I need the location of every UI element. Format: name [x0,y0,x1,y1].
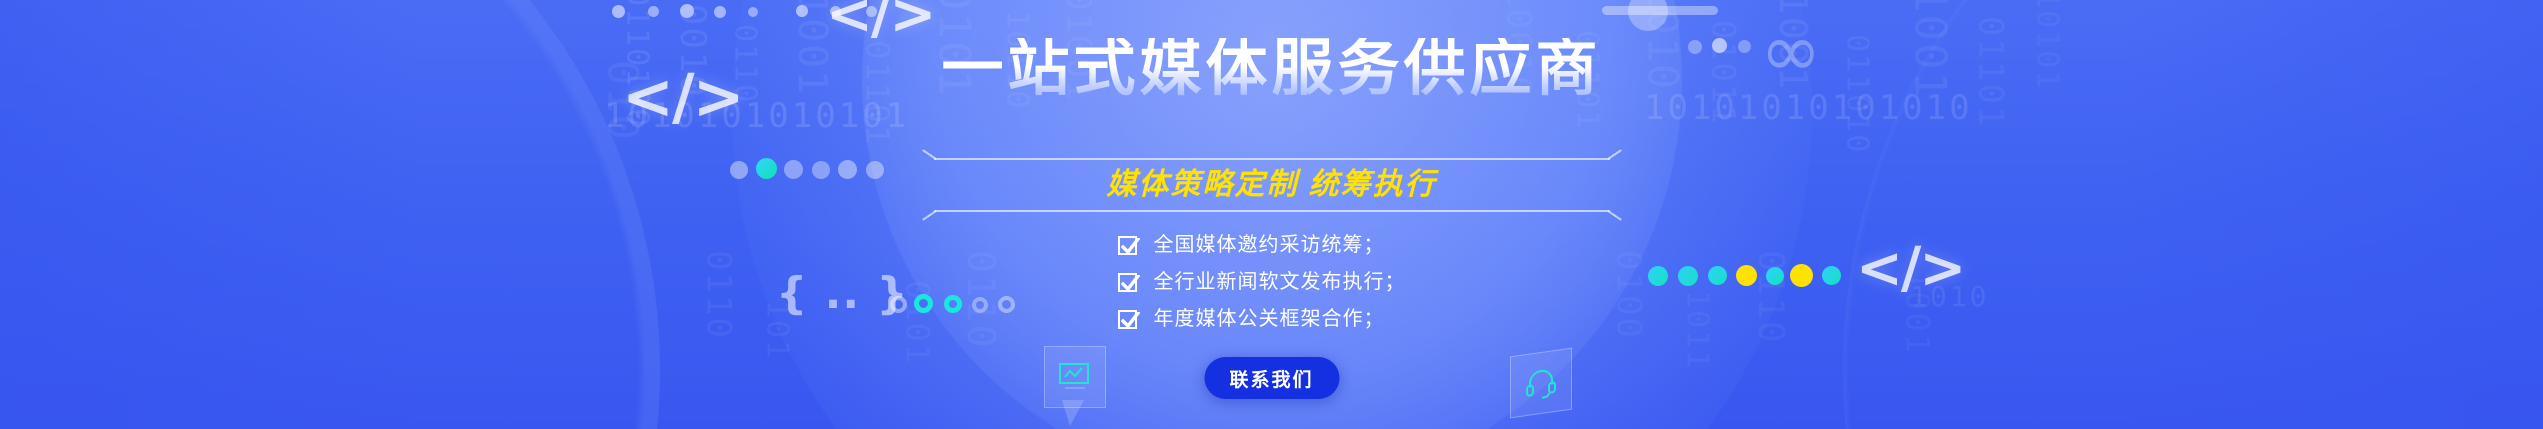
subtitle: 媒体策略定制 统筹执行 [892,164,1652,206]
subtitle-rule-bottom [934,210,1610,212]
edge-fade-left [0,0,420,429]
decor-dot [680,4,694,18]
decor-dot [796,5,808,17]
subtitle-block: 媒体策略定制 统筹执行 [892,158,1652,212]
checkmark-icon [1118,236,1137,255]
contact-us-button[interactable]: 联系我们 [1204,357,1339,399]
decor-dot [612,5,625,18]
page-title: 一站式媒体服务供应商 [892,38,1652,100]
decor-dot [1688,40,1702,54]
checkmark-icon [1118,273,1137,292]
banner-content: 一站式媒体服务供应商 媒体策略定制 统筹执行 全国媒体邀约采访统筹； [892,0,1652,429]
decor-dot [812,161,830,179]
subtitle-rule-top [934,158,1610,160]
list-item-label: 全行业新闻软文发布执行； [1154,272,1406,292]
decor-dot-accent [1678,266,1698,286]
code-braces-icon: { .. } [776,268,909,319]
decor-dot [730,161,748,179]
decor-dot [648,6,659,17]
decor-dot-accent [1822,266,1841,285]
list-item: 年度媒体公关框架合作； [892,302,1652,336]
decor-dot-accent [1766,267,1784,285]
code-tag-icon: </> [622,60,743,133]
decor-dot-yellow [1736,265,1757,286]
list-item-label: 年度媒体公关框架合作； [1154,309,1385,329]
infinity-icon: ∞ [1760,8,1822,94]
decor-dot [1738,40,1751,53]
list-item: 全国媒体邀约采访统筹； [892,228,1652,262]
decor-dot [1712,38,1727,53]
decor-dot-yellow [1790,264,1813,287]
promo-banner: 0110100 010 10010 0110 1001 01101 0101 1… [0,0,2543,429]
decor-dot-accent [1708,266,1727,285]
list-item: 全行业新闻软文发布执行； [892,265,1652,299]
code-tag-icon: </> [1856,236,1964,301]
decor-dot-accent [756,158,777,179]
decor-dot [748,7,758,17]
checkmark-icon [1118,310,1137,329]
decor-dot [784,160,803,179]
decor-dot [714,6,726,18]
edge-fade-right [2123,0,2543,429]
feature-list: 全国媒体邀约采访统筹； 全行业新闻软文发布执行； 年度媒体公关框架合作； [892,228,1652,339]
decor-dot [866,161,884,179]
list-item-label: 全国媒体邀约采访统筹； [1154,235,1385,255]
decor-dot [838,160,857,179]
